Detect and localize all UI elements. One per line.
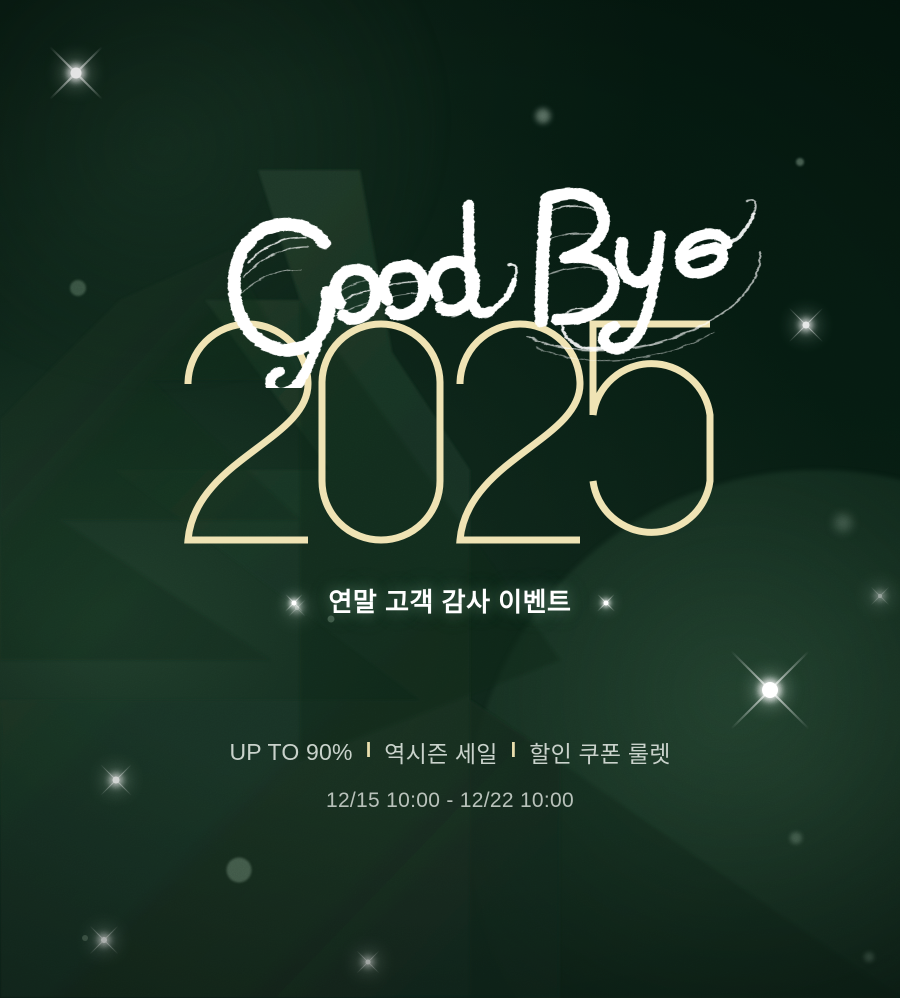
event-period-text: 12/15 10:00 - 12/22 10:00 bbox=[326, 789, 574, 812]
headline-year-2025 bbox=[0, 300, 900, 562]
promo-separator-2: l bbox=[511, 741, 517, 761]
sparkle-icon-left bbox=[281, 590, 307, 616]
promo-separator-1: l bbox=[366, 741, 372, 761]
headline-script-goodbye bbox=[0, 178, 900, 388]
promo-item-discount: UP TO 90% bbox=[229, 739, 352, 766]
event-period-row: 12/15 10:00 - 12/22 10:00 bbox=[0, 789, 900, 813]
subtitle-row: 연말 고객 감사 이벤트 bbox=[0, 586, 900, 620]
sparkle-icon-right bbox=[593, 590, 619, 616]
promo-item-coupon-roulette: 할인 쿠폰 룰렛 bbox=[529, 735, 670, 769]
promo-item-offseason-sale: 역시즌 세일 bbox=[384, 735, 497, 769]
event-poster: 연말 고객 감사 이벤트 UP TO 90% l 역시즌 세일 l 할인 쿠폰 … bbox=[0, 0, 900, 998]
subtitle-text: 연말 고객 감사 이벤트 bbox=[329, 586, 572, 620]
promo-benefits-row: UP TO 90% l 역시즌 세일 l 할인 쿠폰 룰렛 bbox=[0, 735, 900, 769]
